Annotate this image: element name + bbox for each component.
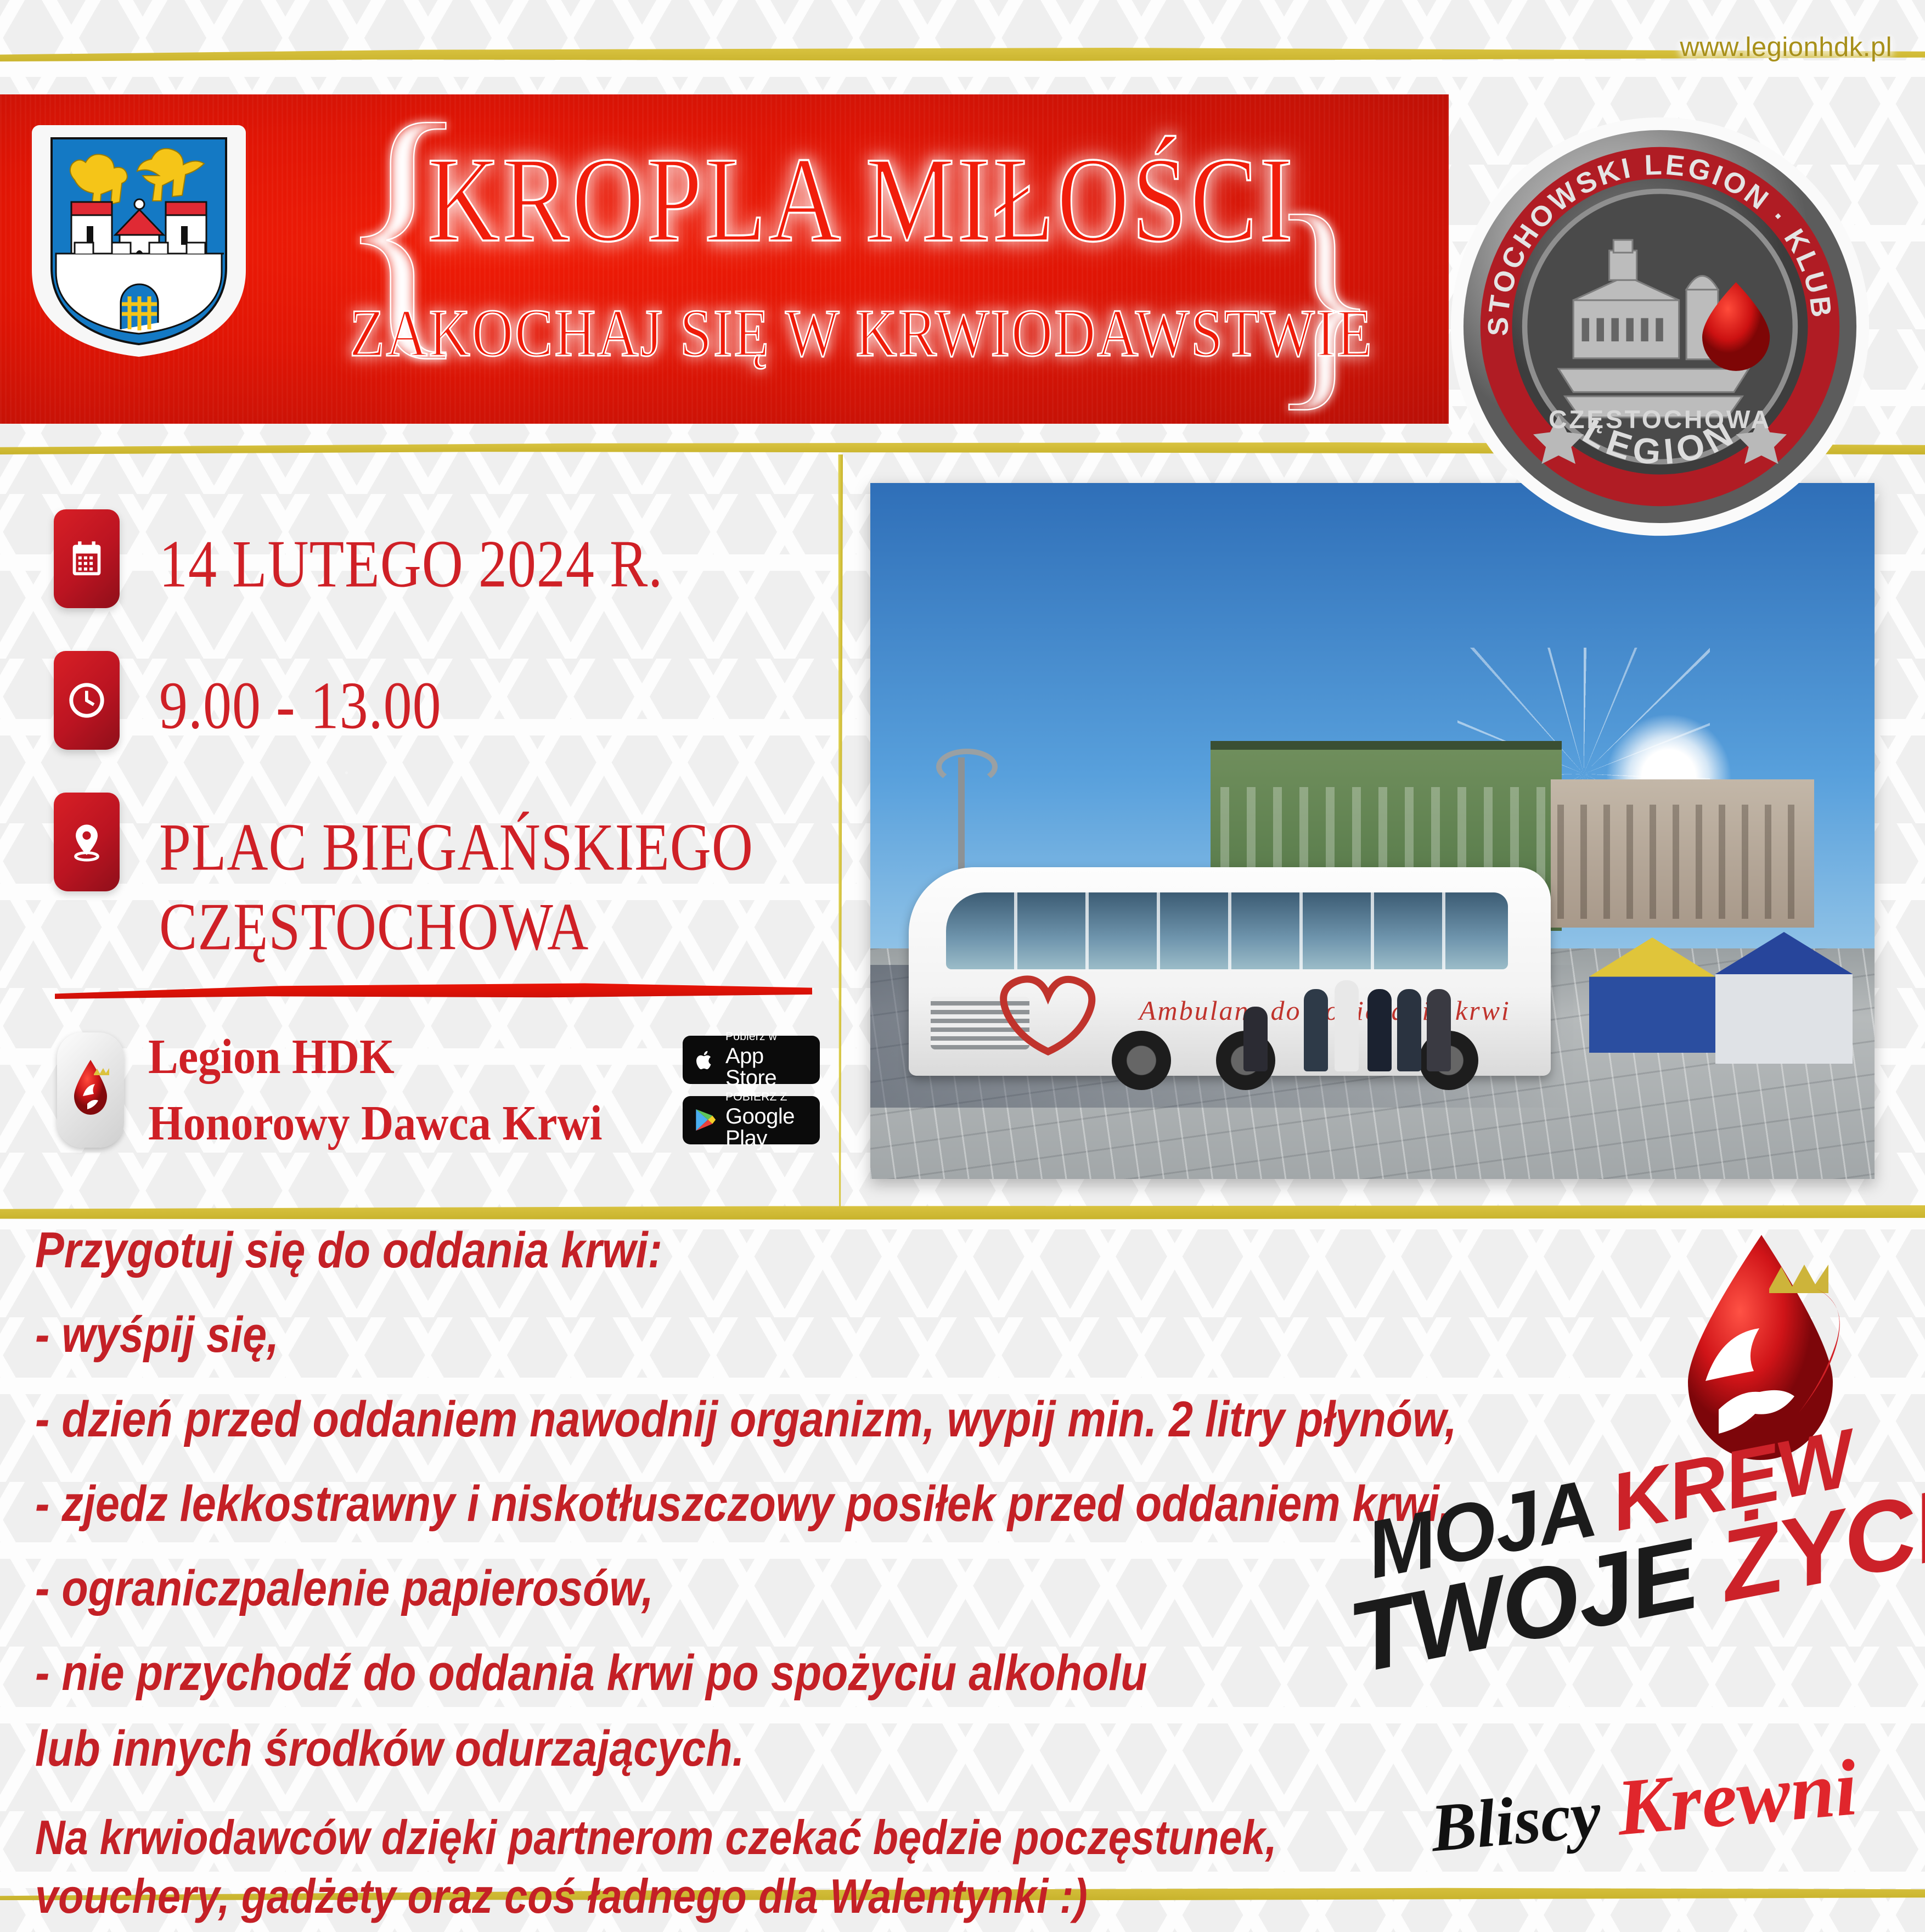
instruction-item: - dzień przed oddaniem nawodnij organizm… <box>35 1394 1404 1445</box>
instruction-item: - ograniczpalenie papierosów, <box>35 1563 1404 1614</box>
heart-icon <box>991 970 1106 1064</box>
title-block: KROPLA MIŁOŚCI ZAKOCHAJ SIĘ W KRWIODAWST… <box>340 104 1383 412</box>
event-date-text: 14 LUTEGO 2024 R. <box>159 527 663 602</box>
event-detail-time: 9.00 - 13.00 <box>54 651 811 750</box>
event-city-text: CZĘSTOCHOWA <box>159 888 753 967</box>
closing-note: Na krwiodawców dzięki partnerom czekać b… <box>35 1808 1404 1926</box>
legion-hdk-app-icon[interactable] <box>57 1032 124 1148</box>
app-name-line1: Legion HDK <box>148 1024 603 1090</box>
clock-icon <box>54 651 120 750</box>
page-title: KROPLA MIŁOŚCI <box>427 139 1296 261</box>
photo-person <box>1304 989 1328 1071</box>
google-play-icon <box>691 1105 719 1136</box>
instructions-block: Przygotuj się do oddania krwi: - wyśpij … <box>35 1225 1404 1926</box>
google-play-small-label: POBIERZ Z <box>725 1091 811 1103</box>
script-word-krewni: Krewni <box>1613 1743 1861 1852</box>
blood-donation-bus: Ambulans do pobierania krwi <box>909 867 1551 1076</box>
bus-wheel <box>1112 1031 1171 1090</box>
page-subtitle: ZAKOCHAJ SIĘ W KRWIODAWSTWIE <box>350 295 1374 372</box>
instruction-item: - wyśpij się, <box>35 1310 1404 1360</box>
bus-windows <box>946 892 1508 969</box>
closing-line-2: vouchery, gadżety oraz coś ładnego dla W… <box>35 1867 1404 1925</box>
google-play-badge[interactable]: POBIERZ Z Google Play <box>683 1096 820 1144</box>
photo-person <box>1367 989 1392 1071</box>
website-url[interactable]: www.legionhdk.pl <box>1680 32 1892 63</box>
photo-tan-building <box>1551 779 1814 928</box>
seal-center-text: CZĘSTOCHOWA <box>1549 405 1771 434</box>
store-badges: Pobierz w App Store POBIERZ Z Google Pla… <box>683 1036 820 1144</box>
event-place-text: PLAC BIEGAŃSKIEGO <box>159 810 753 885</box>
legion-club-seal-icon: CZĘSTOCHOWSKI LEGION · KLUB HDK LEGION C… <box>1449 115 1871 538</box>
google-play-big-label: Google Play <box>725 1105 811 1149</box>
photo-person <box>1335 980 1359 1071</box>
photo-person <box>1397 989 1421 1071</box>
app-name-line2: Honorowy Dawca Krwi <box>148 1090 603 1156</box>
instructions-heading: Przygotuj się do oddania krwi: <box>35 1225 1404 1276</box>
script-word-bliscy: Bliscy <box>1428 1776 1604 1866</box>
instruction-item: - nie przychodź do oddania krwi po spoży… <box>35 1648 1404 1698</box>
apple-icon <box>691 1044 719 1075</box>
instruction-item: - zjedz lekkostrawny i niskotłuszczowy p… <box>35 1479 1404 1529</box>
app-store-big-label: App Store <box>725 1045 811 1089</box>
event-time-text: 9.00 - 13.00 <box>159 669 442 743</box>
map-pin-icon <box>54 793 120 891</box>
app-promo-row: Legion HDK Honorowy Dawca Krwi Pobierz w… <box>57 1030 820 1150</box>
calendar-icon <box>54 509 120 608</box>
photo-person <box>1243 1007 1268 1071</box>
photo-person <box>1427 989 1451 1071</box>
closing-line-1: Na krwiodawców dzięki partnerom czekać b… <box>35 1808 1404 1867</box>
event-photo: Ambulans do pobierania krwi <box>870 483 1875 1179</box>
app-store-badge[interactable]: Pobierz w App Store <box>683 1036 820 1084</box>
app-name-block: Legion HDK Honorowy Dawca Krwi <box>148 1024 603 1156</box>
czestochowa-coat-of-arms-icon <box>32 110 246 357</box>
event-detail-date: 14 LUTEGO 2024 R. <box>54 509 811 608</box>
instruction-item: lub innych środków odurzających. <box>35 1723 1404 1774</box>
event-details-list: 14 LUTEGO 2024 R. 9.00 - 13.00 PLAC BIEG… <box>54 509 811 983</box>
app-store-small-label: Pobierz w <box>725 1031 811 1042</box>
event-detail-location: PLAC BIEGAŃSKIEGO CZĘSTOCHOWA <box>54 793 811 940</box>
